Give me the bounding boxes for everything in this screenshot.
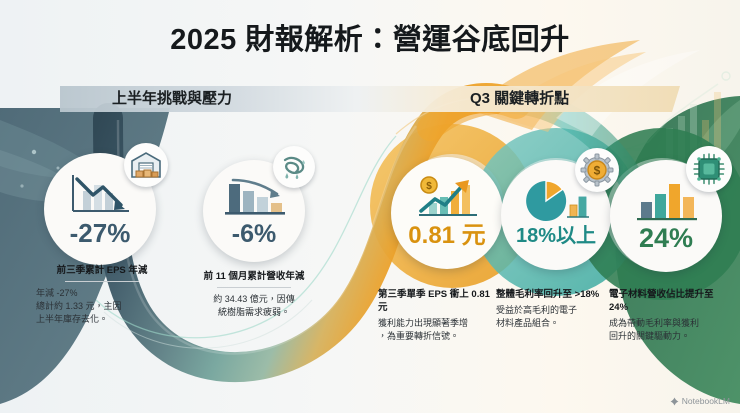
caption-revenue-decline: 前 11 個月累計營收年減 約 34.43 億元，因傳 統樹脂需求疲弱。 [184,270,324,319]
page-title: 2025 財報解析：營運谷底回升 [0,16,740,58]
metric-bubble-eps-rebound: $ 0.81 元 [391,157,503,269]
caption-title-gross-margin: 整體毛利率回升至 >18% [496,288,614,301]
section-header-first-half: 上半年挑戰與壓力 [112,87,232,108]
metric-value-eps-decline: -27% [70,220,131,246]
microchip-icon [691,151,727,187]
caption-body-electronic-materials: 成為帶動毛利率與獲利 回升的關鍵驅動力。 [609,317,733,343]
badge-resin [273,146,315,188]
caption-body-eps-rebound: 獲利能力出現顯著季增 ，為重要轉折信號。 [378,317,500,343]
caption-title-eps-decline: 前三季累計 EPS 年減 [36,264,168,277]
gear-dollar-icon: $ [580,153,614,187]
metric-bubble-electronic-materials: 24% [610,160,722,272]
caption-electronic-materials: 電子材料營收佔比提升至 24% 成為帶動毛利率與獲利 回升的關鍵驅動力。 [609,288,733,343]
caption-title-eps-rebound: 第三季單季 EPS 衝上 0.81 元 [378,288,500,314]
rising-arrow-chart-icon: $ [411,173,483,223]
svg-text:$: $ [594,164,601,178]
badge-warehouse [124,143,168,187]
metric-value-gross-margin: 18%以上 [516,226,596,246]
caption-eps-decline: 前三季累計 EPS 年減 年減 -27% 總計約 1.33 元，主因 上半年庫存… [36,264,168,326]
caption-divider [217,287,291,288]
metric-bubble-revenue-decline: -6% [203,160,305,262]
declining-line-chart-icon [65,169,135,219]
badge-microchip [686,146,732,192]
caption-body-eps-decline: 年減 -27% 總計約 1.33 元，主因 上半年庫存去化。 [36,287,168,326]
caption-body-revenue-decline: 約 34.43 億元，因傳 統樹脂需求疲弱。 [184,293,324,319]
metric-value-electronic-materials: 24% [639,225,693,252]
resin-droplet-icon [278,152,310,182]
notebooklm-logo-icon [670,397,679,406]
warehouse-icon [130,150,162,180]
caption-eps-rebound: 第三季單季 EPS 衝上 0.81 元 獲利能力出現顯著季增 ，為重要轉折信號。 [378,288,500,343]
caption-title-revenue-decline: 前 11 個月累計營收年減 [184,270,324,283]
metric-value-revenue-decline: -6% [232,222,276,247]
caption-divider [65,281,139,282]
caption-title-electronic-materials: 電子材料營收佔比提升至 24% [609,288,733,314]
metric-bubble-eps-decline: -27% [44,153,156,265]
caption-body-gross-margin: 受益於高毛利的電子 材料產品組合。 [496,304,614,330]
infographic-canvas: 2025 財報解析：營運谷底回升 上半年挑戰與壓力 Q3 關鍵轉折點 -27% [0,0,740,413]
watermark: NotebookLM [670,396,730,406]
watermark-label: NotebookLM [682,396,730,406]
metric-bubble-gross-margin: 18%以上 $ [501,160,611,270]
badge-gear-dollar: $ [575,148,619,192]
section-header-q3: Q3 關鍵轉折點 [470,87,569,108]
svg-text:$: $ [426,181,432,192]
metric-value-eps-rebound: 0.81 元 [408,224,485,248]
caption-gross-margin: 整體毛利率回升至 >18% 受益於高毛利的電子 材料產品組合。 [496,288,614,330]
